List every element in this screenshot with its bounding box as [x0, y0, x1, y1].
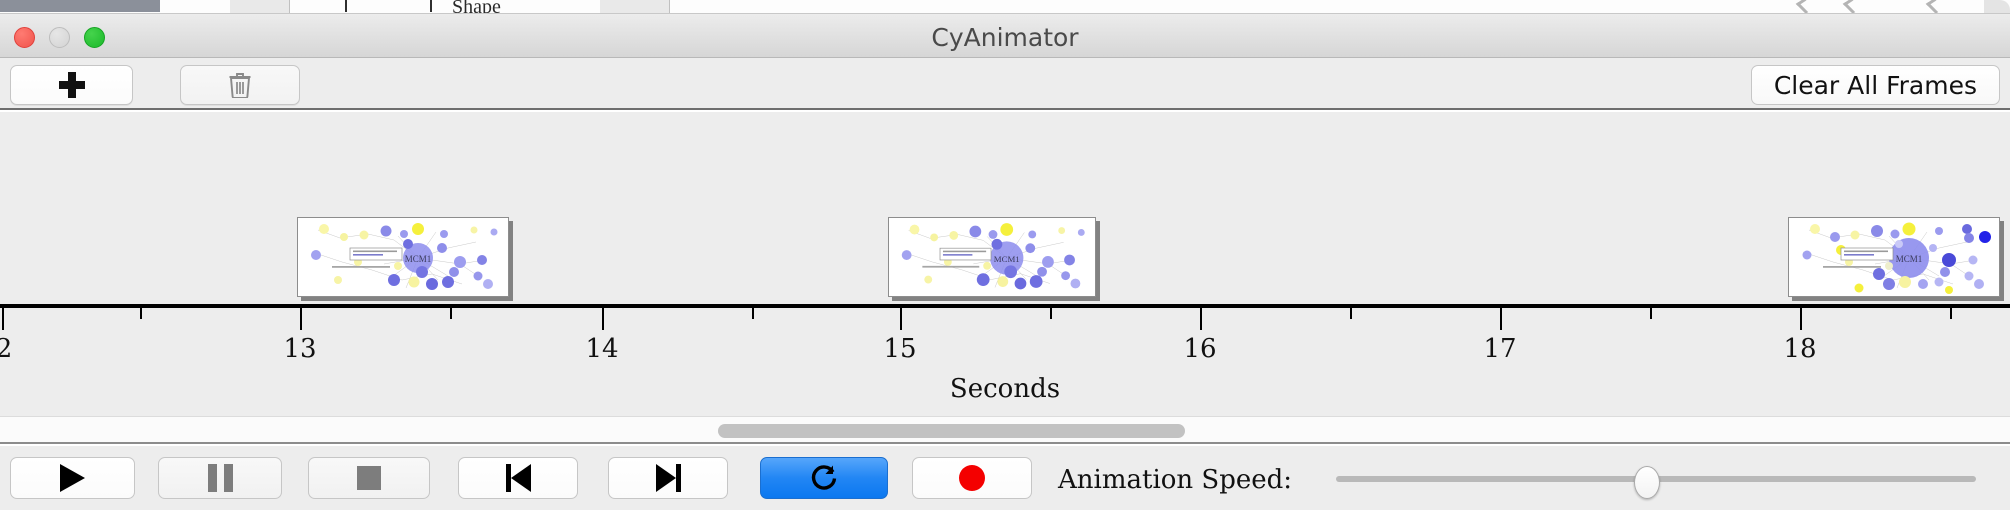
timeline-scrollbar[interactable] [0, 416, 2010, 444]
axis-tick-minor [140, 308, 142, 319]
chevron-icon [1796, 0, 1814, 14]
svg-text:MCM1: MCM1 [405, 254, 432, 264]
background-window-tab [600, 0, 670, 14]
axis-tick-minor [1950, 308, 1952, 319]
trash-icon [229, 72, 251, 98]
axis-tick-major [1800, 308, 1802, 330]
skip-to-end-button[interactable] [608, 457, 728, 499]
frame-thumbnail[interactable]: MCM1 [297, 217, 509, 297]
axis-tick-minor [450, 308, 452, 319]
play-button[interactable] [10, 457, 135, 499]
skip-to-start-button[interactable] [458, 457, 578, 499]
svg-text:MCM1: MCM1 [994, 254, 1020, 264]
stop-icon [357, 466, 381, 490]
record-icon [959, 465, 985, 491]
axis-tick-label: 18 [1783, 334, 1816, 364]
axis-tick-minor [1650, 308, 1652, 319]
stop-button[interactable] [308, 457, 430, 499]
chevron-icon [1926, 0, 1944, 14]
background-window-label: Shape [452, 0, 501, 14]
frame-thumbnail[interactable]: MCM1 [888, 217, 1096, 297]
pause-icon [208, 464, 233, 492]
axis-tick-major [1200, 308, 1202, 330]
axis-tick-major [1500, 308, 1502, 330]
axis-tick-major [2, 308, 4, 330]
timeline-panel[interactable]: MCM1 [0, 112, 2010, 416]
animation-speed-slider-thumb[interactable] [1634, 466, 1660, 499]
background-window-tab [230, 0, 290, 14]
background-window-strip: Shape [0, 0, 2010, 14]
background-window-tick [345, 0, 347, 12]
axis-tick-label: 17 [1483, 334, 1516, 364]
axis-tick-major [602, 308, 604, 330]
axis-tick-label: 16 [1183, 334, 1216, 364]
frame-thumbnail[interactable]: MCM1 [1788, 217, 2000, 297]
background-window-dark-region [0, 0, 160, 12]
window-title: CyAnimator [0, 23, 2010, 52]
axis-title: Seconds [0, 374, 2010, 404]
record-button[interactable] [912, 457, 1032, 499]
clear-all-frames-button[interactable]: Clear All Frames [1751, 65, 2000, 105]
loop-button[interactable] [760, 457, 888, 499]
plus-icon [59, 72, 85, 98]
add-frame-button[interactable] [10, 65, 133, 105]
pause-button[interactable] [158, 457, 282, 499]
title-bar: CyAnimator [0, 14, 2010, 58]
background-window-tick [430, 0, 432, 12]
delete-frame-button[interactable] [180, 65, 300, 105]
axis-tick-label: 13 [283, 334, 316, 364]
axis-tick-label: 2 [0, 334, 12, 364]
skip-to-end-icon [656, 464, 681, 492]
axis-tick-minor [1050, 308, 1052, 319]
play-icon [60, 464, 85, 492]
skip-to-start-icon [506, 464, 531, 492]
svg-text:MCM1: MCM1 [1896, 254, 1923, 264]
axis-tick-label: 14 [585, 334, 618, 364]
animation-speed-label: Animation Speed: [1058, 465, 1292, 495]
cyanimator-window: Shape CyAnimator Clear All Frames [0, 0, 2010, 510]
background-window-corner [1984, 0, 2010, 14]
axis-tick-minor [752, 308, 754, 319]
chevron-icon [1843, 0, 1861, 14]
axis-tick-major [900, 308, 902, 330]
axis-tick-label: 15 [883, 334, 916, 364]
axis-tick-major [300, 308, 302, 330]
playback-control-bar: Animation Speed: [0, 446, 2010, 510]
axis-tick-minor [1350, 308, 1352, 319]
loop-icon [809, 463, 839, 493]
toolbar: Clear All Frames [0, 58, 2010, 110]
scrollbar-thumb[interactable] [718, 424, 1185, 438]
